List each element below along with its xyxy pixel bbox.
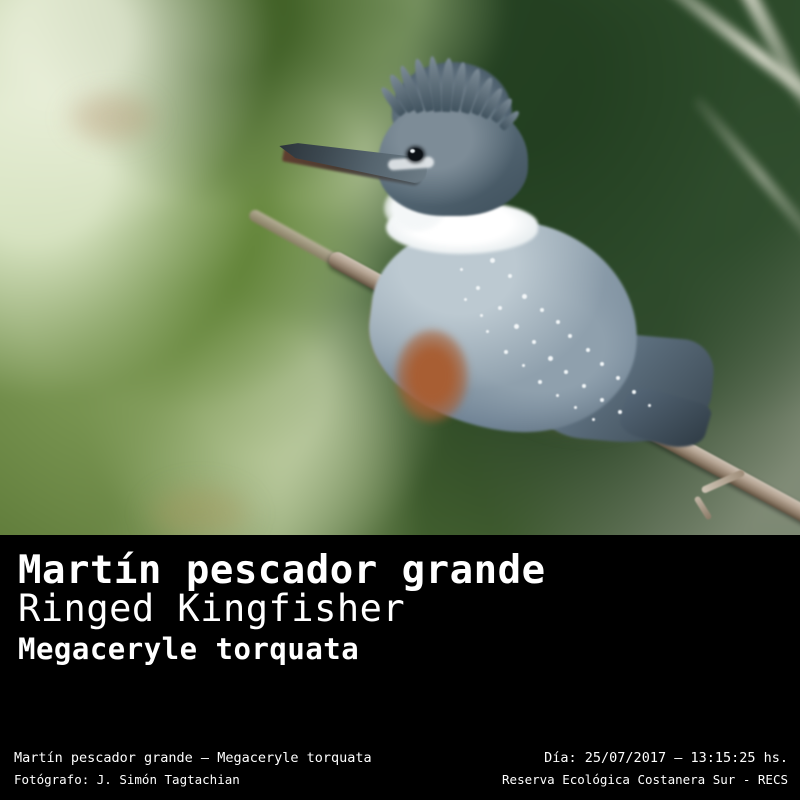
bird-speckle [600,398,604,402]
bird-speckle [514,324,519,329]
bird-speckle [600,362,604,366]
bird-speckle [486,330,489,333]
bird-speckle [568,334,572,338]
photo-card: Martín pescador grande Ringed Kingfisher… [0,0,800,800]
bird-speckle [476,286,480,290]
bird-speckle [632,390,636,394]
bird-speckle [618,410,622,414]
bird-speckle [498,306,502,310]
bird-speckle [648,404,651,407]
footer-date: Día: 25/07/2017 – 13:15:25 hs. [544,750,788,766]
bird-speckle [504,350,508,354]
bird-speckle [592,418,595,421]
species-title-block: Martín pescador grande Ringed Kingfisher… [0,535,640,705]
bird-speckle [460,268,463,271]
bird-speckle [582,384,586,388]
footer-location: Reserva Ecológica Costanera Sur - RECS [502,772,788,787]
bird-speckle [586,348,590,352]
bird-speckle [548,356,553,361]
bird-speckle [480,314,483,317]
bird-speckle [464,298,467,301]
bird-rufous-belly [396,330,468,422]
metadata-footer: Martín pescador grande – Megaceryle torq… [0,748,800,800]
footer-photographer: Fotógrafo: J. Simón Tagtachian [14,772,240,787]
bird-eye-highlight [410,149,415,153]
kingfisher-bird [300,62,700,462]
bird-photograph [0,0,800,535]
bird-speckle [616,376,620,380]
common-name-en: Ringed Kingfisher [18,588,405,630]
footer-caption: Martín pescador grande – Megaceryle torq… [14,750,372,766]
bird-speckle [556,320,560,324]
bird-speckle [538,380,542,384]
bird-speckle [540,308,544,312]
bird-speckle [564,370,568,374]
bird-speckle [522,364,525,367]
bird-speckle [490,258,495,263]
scientific-name: Megaceryle torquata [18,632,359,666]
bird-speckle [508,274,512,278]
bird-speckle [532,340,536,344]
bird-speckle [556,394,559,397]
bird-speckle [574,406,577,409]
bird-speckle [522,294,527,299]
